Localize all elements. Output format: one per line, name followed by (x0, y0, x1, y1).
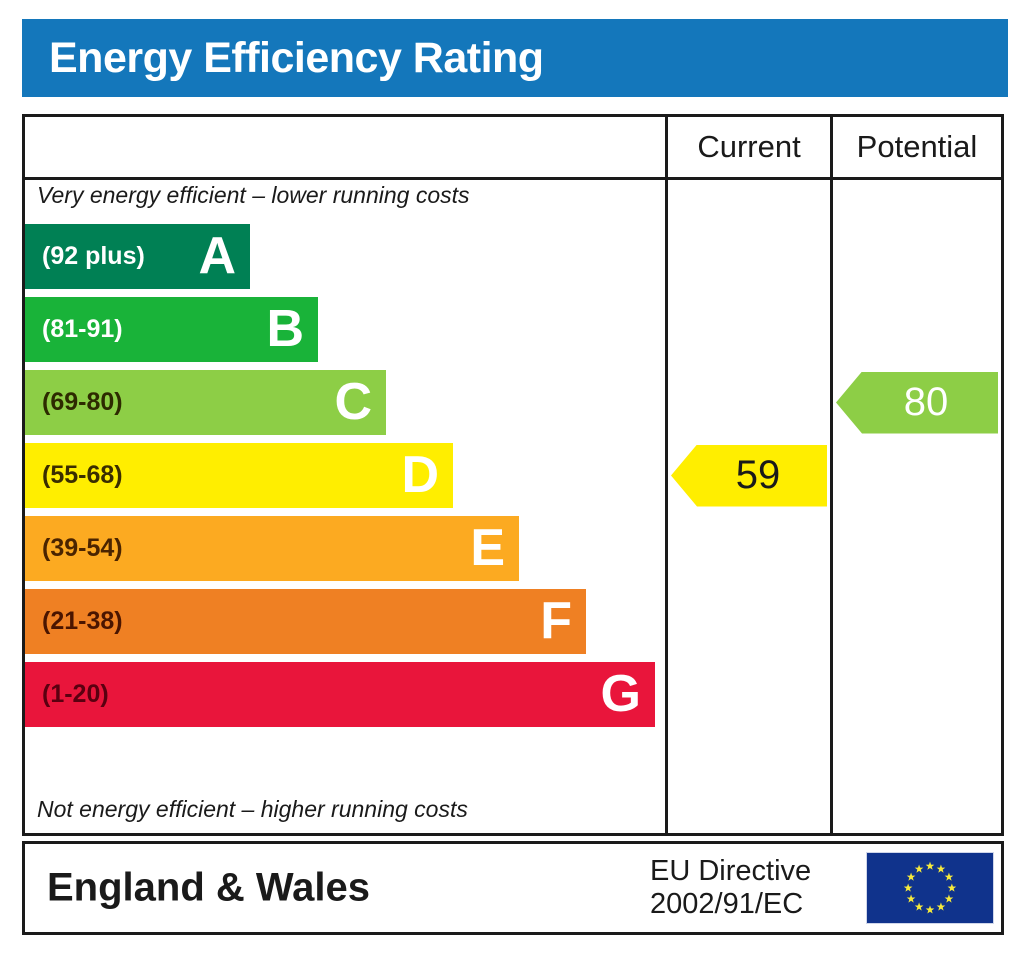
directive-line-1: EU Directive (650, 855, 811, 888)
rating-arrow-current: 59 (671, 445, 827, 507)
eu-star (907, 873, 916, 881)
band-bar-e: (39-54)E (25, 516, 519, 581)
band-row: (1-20)G (25, 658, 665, 731)
band-range-label: (1-20) (25, 680, 109, 709)
band-range-label: (55-68) (25, 461, 123, 490)
page-title: Energy Efficiency Rating (22, 34, 544, 83)
band-bar-g: (1-20)G (25, 662, 655, 727)
band-range-label: (69-80) (25, 388, 123, 417)
footer-region-label: England & Wales (47, 866, 370, 911)
band-letter-label: G (601, 667, 641, 719)
eu-star (915, 902, 924, 910)
band-row: (92 plus)A (25, 220, 665, 293)
band-bar-a: (92 plus)A (25, 224, 250, 289)
band-bar-b: (81-91)B (25, 297, 318, 362)
eu-star (948, 883, 957, 891)
directive-line-2: 2002/91/EC (650, 888, 811, 921)
column-divider-potential (830, 117, 833, 833)
band-bar-f: (21-38)F (25, 589, 586, 654)
caption-not-efficient: Not energy efficient – higher running co… (37, 796, 468, 823)
band-letter-label: D (401, 448, 439, 500)
band-bar-list: (92 plus)A(81-91)B(69-80)C(55-68)D(39-54… (25, 220, 665, 731)
column-header-current: Current (668, 117, 830, 177)
rating-value-current: 59 (736, 453, 781, 498)
band-range-label: (39-54) (25, 534, 123, 563)
eu-star (904, 883, 913, 891)
band-range-label: (92 plus) (25, 242, 145, 271)
band-letter-label: C (334, 375, 372, 427)
band-bar-d: (55-68)D (25, 443, 453, 508)
eu-star (926, 905, 935, 913)
rating-value-potential: 80 (904, 380, 949, 425)
band-row: (81-91)B (25, 293, 665, 366)
eu-star (937, 865, 946, 873)
band-letter-label: F (540, 594, 572, 646)
eu-star (907, 894, 916, 902)
eu-star (937, 902, 946, 910)
eu-star (926, 862, 935, 870)
band-bar-c: (69-80)C (25, 370, 386, 435)
band-letter-label: E (470, 521, 505, 573)
footer-bar: England & Wales EU Directive 2002/91/EC (22, 841, 1004, 935)
band-range-label: (21-38) (25, 607, 123, 636)
title-bar: Energy Efficiency Rating (22, 19, 1008, 97)
footer-directive-label: EU Directive 2002/91/EC (650, 855, 811, 921)
eu-star (945, 894, 954, 902)
band-range-label: (81-91) (25, 315, 123, 344)
column-divider-current (665, 117, 668, 833)
eu-star (915, 865, 924, 873)
header-divider (25, 177, 1001, 180)
rating-grid: Current Potential Very energy efficient … (22, 114, 1004, 836)
column-header-potential: Potential (833, 117, 1001, 177)
band-row: (39-54)E (25, 512, 665, 585)
band-row: (69-80)C (25, 366, 665, 439)
eu-star (945, 873, 954, 881)
eu-flag-icon (866, 852, 994, 924)
energy-efficiency-certificate: Energy Efficiency Rating Current Potenti… (0, 0, 1024, 959)
band-row: (55-68)D (25, 439, 665, 512)
band-letter-label: B (266, 302, 304, 354)
band-row: (21-38)F (25, 585, 665, 658)
band-letter-label: A (198, 229, 236, 281)
caption-very-efficient: Very energy efficient – lower running co… (37, 182, 470, 209)
rating-arrow-potential: 80 (836, 372, 998, 434)
